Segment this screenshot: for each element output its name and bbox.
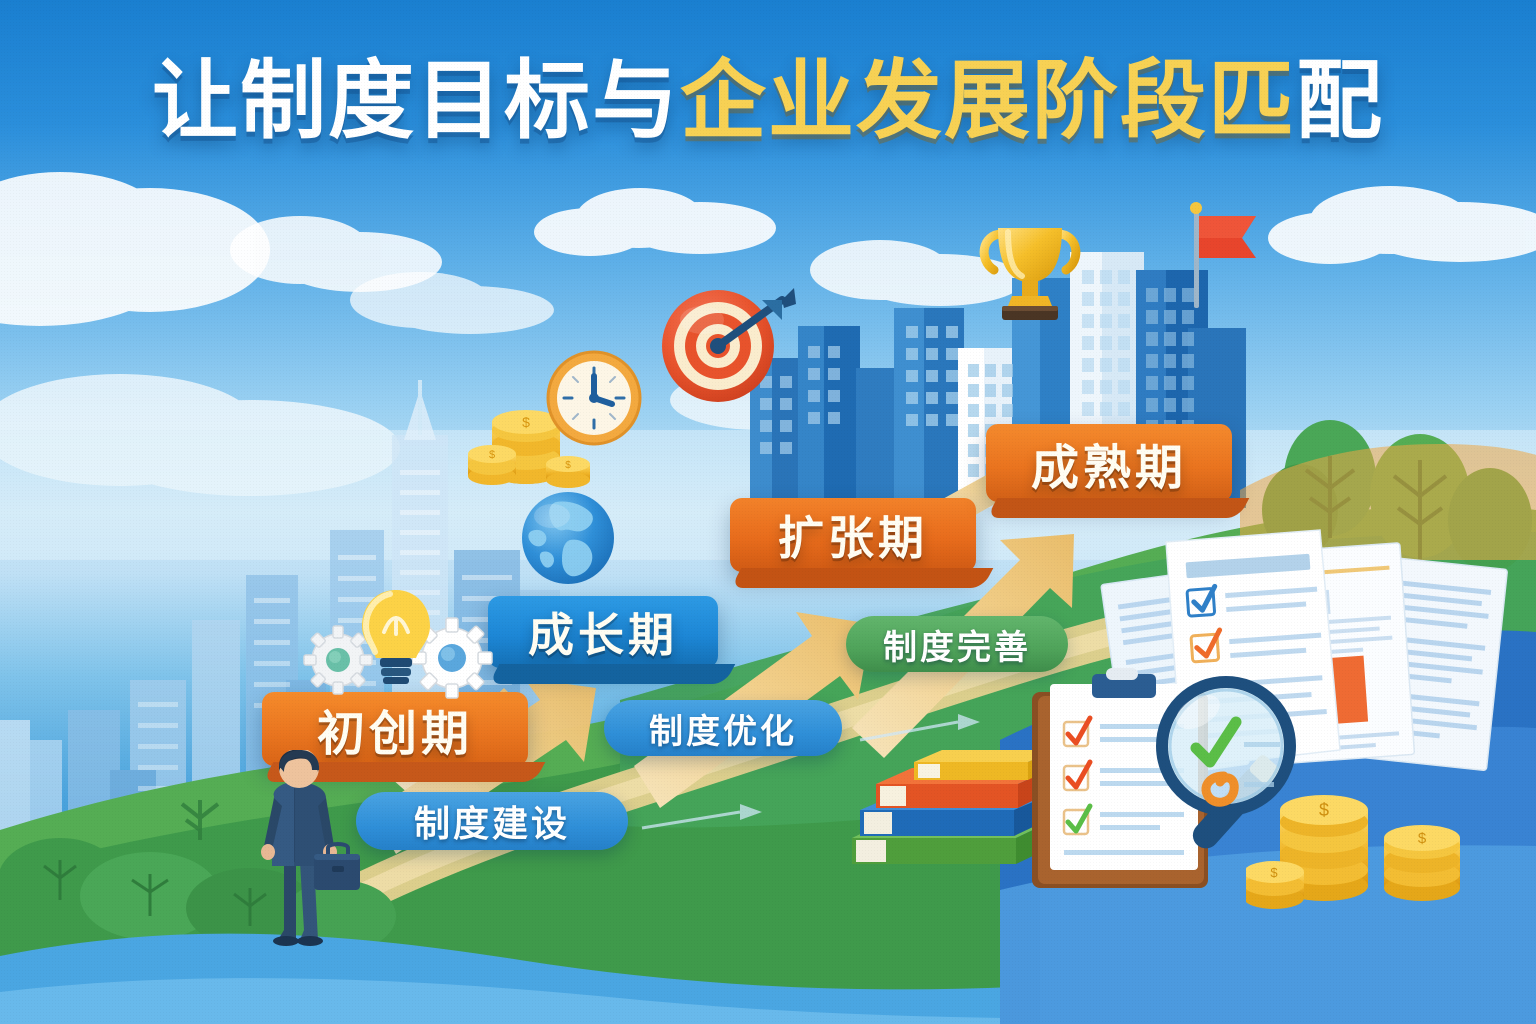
pill-system-optimization-label: 制度优化: [649, 704, 797, 753]
svg-text:$: $: [565, 460, 571, 471]
gears-lightbulb-group: [300, 582, 500, 702]
stage-mature-label: 成熟期: [1031, 428, 1187, 498]
stage-mature[interactable]: 成熟期: [986, 424, 1232, 502]
pill-system-building[interactable]: 制度建设: [356, 792, 628, 850]
stage-expansion[interactable]: 扩张期: [730, 498, 976, 572]
page-title-part-1: 让制度目标与: [152, 53, 680, 149]
stage-growth[interactable]: 成长期: [488, 596, 718, 668]
businessman-figure: [238, 750, 368, 950]
stage-mature-side: [987, 498, 1250, 518]
stage-expansion-label: 扩张期: [778, 502, 928, 568]
page-title-part-3: 配: [1296, 53, 1384, 149]
globe-icon: [516, 486, 620, 590]
svg-text:$: $: [522, 414, 530, 430]
stage-growth-label: 成长期: [528, 599, 678, 665]
stage-mature-slab[interactable]: 成熟期: [986, 424, 1232, 502]
target-arrow-icon: [656, 282, 796, 412]
stage-growth-slab[interactable]: 成长期: [488, 596, 718, 668]
pill-system-improvement[interactable]: 制度完善: [846, 616, 1068, 672]
svg-text:$: $: [1270, 865, 1278, 880]
pill-system-building-label: 制度建设: [414, 795, 570, 847]
svg-text:$: $: [1418, 830, 1427, 847]
stage-expansion-slab[interactable]: 扩张期: [730, 498, 976, 572]
pill-system-improvement-label: 制度完善: [883, 620, 1031, 669]
stage-expansion-side: [731, 568, 994, 588]
stage-growth-side: [489, 664, 736, 684]
lightbulb-icon: [362, 590, 430, 684]
flag-icon: [1176, 200, 1266, 310]
coins-stack-icon: $ $ $: [1246, 786, 1476, 936]
page-title: 让制度目标与企业发展阶段匹配: [0, 58, 1536, 144]
gear-icon: [304, 626, 372, 694]
trophy-icon: [972, 208, 1088, 324]
svg-text:$: $: [489, 449, 495, 461]
page-title-part-2: 企业发展阶段匹: [680, 53, 1296, 149]
poster-canvas: 初创期 成长期 扩张期 成熟期 制度建设 制度优化 制度完善: [0, 0, 1536, 1024]
clock-icon: [542, 346, 646, 450]
svg-text:$: $: [1319, 800, 1329, 820]
pill-system-optimization[interactable]: 制度优化: [604, 700, 842, 756]
